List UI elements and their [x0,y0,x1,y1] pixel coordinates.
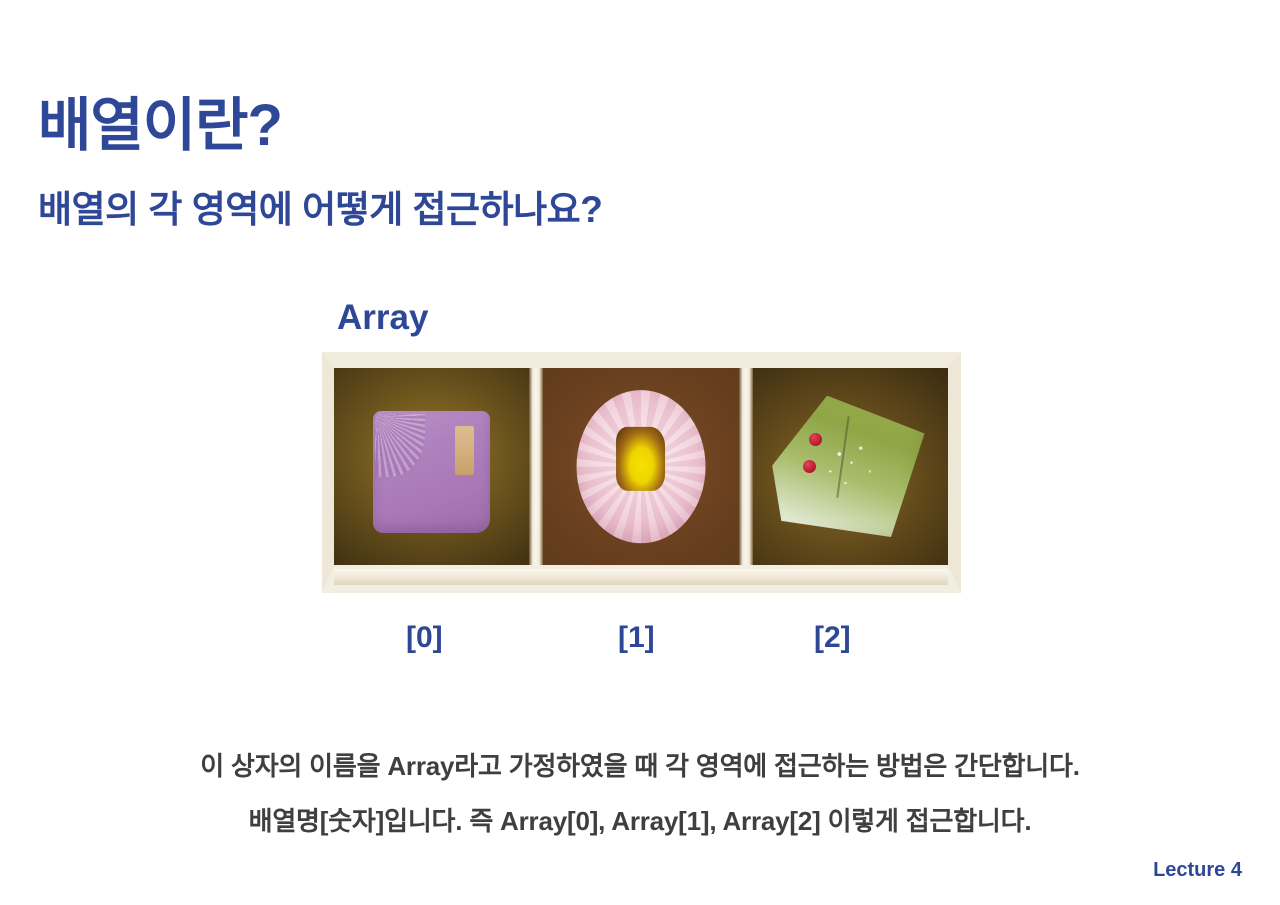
array-box-photo [322,352,961,593]
array-index-label-2: [2] [814,623,851,653]
array-name-label: Array [337,300,428,335]
caption-line-2: 배열명[숫자]입니다. 즉 Array[0], Array[1], Array[… [0,808,1280,834]
array-index-label-1: [1] [618,623,655,653]
box-front-lip [334,569,948,585]
caption-line-1: 이 상자의 이름을 Array라고 가정하였을 때 각 영역에 접근하는 방법은… [0,753,1280,779]
page-title: 배열이란? [38,97,282,155]
footer-lecture-label: Lecture 4 [1153,860,1242,880]
wooden-box-frame [322,352,961,593]
page-subtitle: 배열의 각 영역에 어떻게 접근하나요? [38,191,602,228]
array-index-label-0: [0] [406,623,443,653]
